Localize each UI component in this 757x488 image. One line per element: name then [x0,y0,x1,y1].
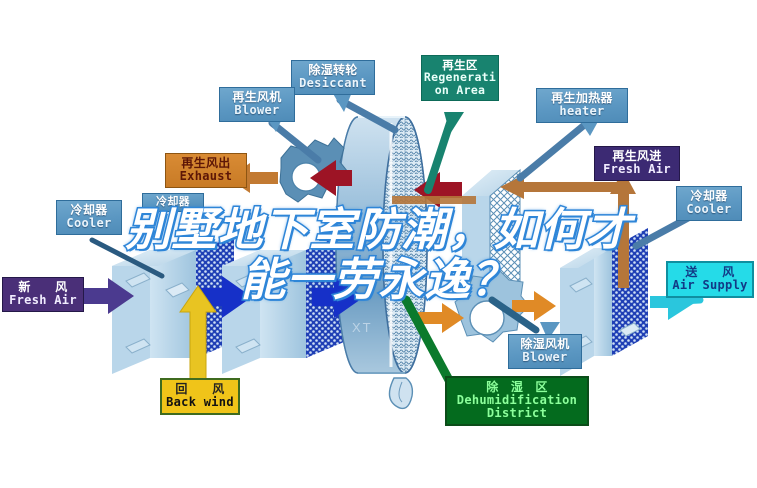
label-regen-heater-cn: 再生加热器 [537,92,627,105]
label-regeneration-area-en1: Regenerati [422,71,498,83]
headline-line-1: 别墅地下室防潮，如何才 [0,205,757,255]
headline-line-2: 能一劳永逸？ [0,255,757,305]
label-back-wind-en: Back wind [162,396,238,409]
label-back-wind-cn: 回 风 [162,383,238,396]
label-cooler-right-cn: 冷却器 [677,190,741,203]
label-exhaust-en: Exhaust [166,170,246,183]
label-dehum-blower-cn: 除湿风机 [509,338,581,351]
label-regen-fresh-air-cn: 再生风进 [595,150,679,163]
dehumidifier-schematic: 除湿转轮 Desiccant 再生风机 Blower 再生区 Regenerat… [0,0,757,488]
label-regen-fresh-air[interactable]: 再生风进 Fresh Air [594,146,680,181]
label-regen-heater-en: heater [537,105,627,118]
label-exhaust[interactable]: 再生风出 Exhaust [165,153,247,188]
label-regeneration-area-en2: on Area [422,84,498,96]
watermark: XT [352,320,373,335]
label-desiccant-wheel-cn: 除湿转轮 [292,64,374,77]
label-dehum-blower-en: Blower [509,351,581,364]
label-regen-fresh-air-en: Fresh Air [595,163,679,176]
label-dehumidification-district-en1: Dehumidification [447,394,587,407]
label-dehumidification-district-cn: 除 湿 区 [447,381,587,394]
label-dehumidification-district-en2: District [447,407,587,420]
label-regeneration-area[interactable]: 再生区 Regenerati on Area [421,55,499,101]
label-dehum-blower[interactable]: 除湿风机 Blower [508,334,582,369]
label-regen-heater[interactable]: 再生加热器 heater [536,88,628,123]
label-desiccant-wheel-en: Desiccant [292,77,374,90]
label-exhaust-cn: 再生风出 [166,157,246,170]
headline-overlay: 别墅地下室防潮，如何才 能一劳永逸？ [0,205,757,305]
label-regen-blower[interactable]: 再生风机 Blower [219,87,295,122]
label-desiccant-wheel[interactable]: 除湿转轮 Desiccant [291,60,375,95]
label-regen-blower-cn: 再生风机 [220,91,294,104]
label-back-wind[interactable]: 回 风 Back wind [160,378,240,415]
label-regen-blower-en: Blower [220,104,294,117]
label-dehumidification-district[interactable]: 除 湿 区 Dehumidification District [445,376,589,426]
